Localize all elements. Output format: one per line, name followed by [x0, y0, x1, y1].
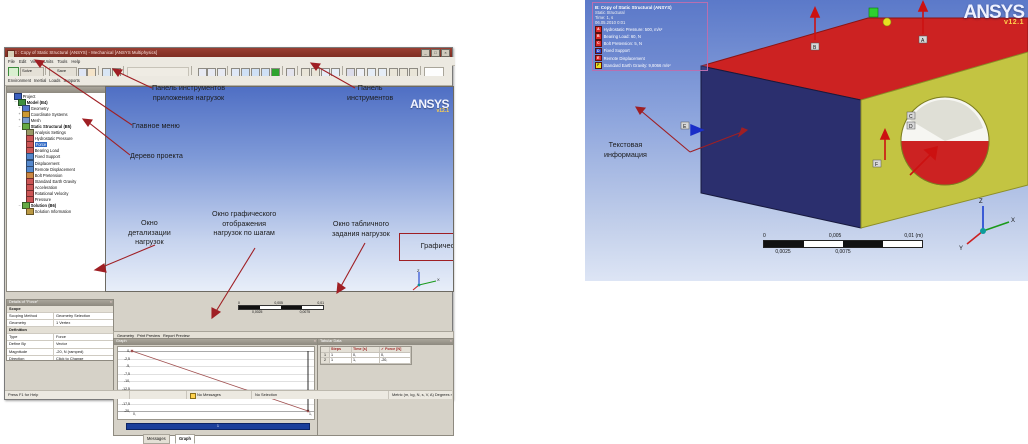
tree-item-label: Acceleration	[35, 185, 58, 190]
tab-graph[interactable]: Graph	[175, 434, 195, 444]
chart-plot-area	[118, 347, 314, 419]
legend-item-label: Standard Earth Gravity: 9,8066 m/s²	[604, 63, 671, 68]
tabular-cell[interactable]: -20,	[380, 358, 411, 364]
ansys-watermark-small: ANSYS v12.1	[410, 97, 449, 114]
tree-item-label: Analysis Settings	[35, 130, 66, 135]
annotation-project-tree-line1: Дерево проекта	[130, 151, 183, 161]
bottom-tab-strip[interactable]: Messages Graph	[113, 434, 452, 442]
toolbar-label-inertial[interactable]: Inertial	[34, 78, 46, 83]
details-row-key: Definition	[7, 327, 113, 333]
annotation-graph-window: Окно графического отображения нагрузок п…	[212, 209, 276, 238]
annotation-details-window: Окно детализации нагрузок	[128, 218, 171, 247]
details-row[interactable]: Magnitude-20, N (ramped)	[7, 349, 113, 356]
tabular-data-header: Tabular Data ×	[318, 339, 453, 345]
status-selection: No Selection	[252, 391, 389, 399]
details-row[interactable]: Define ByVector	[7, 341, 113, 348]
scale-label-quarter-small: 0,0025	[252, 310, 262, 314]
scale-label-threequarter-small: 0,0075	[300, 310, 310, 314]
scale-label-0-large: 0	[763, 233, 766, 239]
scale-bottom-labels-small: 0,0025 0,0075	[238, 310, 324, 314]
details-row-key: Scope	[7, 306, 113, 312]
scale-label-0-small: 0	[238, 301, 240, 305]
annotation-graph-line2: отображения	[212, 219, 276, 229]
menu-item-units[interactable]: Units	[44, 59, 54, 64]
tabular-row[interactable]: 211,-20,	[321, 358, 411, 364]
details-row[interactable]: Scoping MethodGeometry Selection	[7, 313, 113, 320]
legend-item-label: Hydrostatic Pressure: 500, m/s²	[604, 27, 663, 32]
scale-label-quarter-large: 0,0025	[763, 249, 803, 255]
status-messages[interactable]: No Messages	[187, 391, 252, 399]
chart-xtick-label: 0,	[133, 412, 136, 416]
scale-label-max-large: 0,01 (m)	[904, 233, 923, 239]
details-row-value[interactable]: Force	[54, 334, 113, 340]
chart-xtick-label: 1,	[309, 412, 312, 416]
graphics-window-callout-box: Графическое окно	[399, 233, 454, 261]
legend-item-label: Fixed Support	[604, 48, 630, 53]
menu-item-edit[interactable]: Edit	[19, 59, 26, 64]
status-help-text: Press F1 for Help	[5, 391, 130, 399]
legend-tag-badge: B	[595, 33, 602, 40]
details-close-icon[interactable]: ×	[110, 300, 112, 306]
scale-bar-large: 0 0,005 0,01 (m) 0,0025 0,0075	[763, 233, 923, 255]
annotation-graphics-window: Графическое окно	[400, 241, 454, 250]
annotation-toolbar-line2: инструментов	[347, 93, 393, 103]
details-row-key: Type	[7, 334, 54, 340]
details-row-key: Direction	[7, 356, 54, 361]
tabular-cell[interactable]: 1,	[352, 358, 380, 364]
status-units: Metric (m, kg, N, s, V, A) Degrees rad/s…	[389, 391, 452, 399]
scale-label-threequarter-large: 0,0075	[803, 249, 883, 255]
tabular-data-grid[interactable]: StepsTime [s]✓ Force [N]110,0,211,-20,	[320, 346, 412, 365]
annotation-text-info-line2: информация	[604, 150, 647, 160]
tree-item-label: Solution Information	[35, 209, 71, 214]
annotation-tabular-line1: Окно табличного	[332, 219, 390, 229]
legend-item: AHydrostatic Pressure: 500, m/s²	[595, 26, 705, 33]
annotation-text-information: Текстовая информация	[604, 140, 647, 159]
annotation-toolbar-line1: Панель	[347, 83, 393, 93]
solution-information-icon	[26, 208, 34, 215]
tabular-cell[interactable]: 2	[321, 358, 330, 364]
graph-close-icon[interactable]: ×	[314, 339, 316, 345]
tree-item-label: Standard Earth Gravity	[35, 179, 77, 184]
scale-top-labels-large: 0 0,005 0,01 (m)	[763, 233, 923, 239]
graphics-viewport[interactable]: ANSYS v12.1 Графическое окно Z X	[105, 86, 454, 292]
svg-text:X: X	[437, 277, 440, 282]
warning-icon	[190, 393, 196, 399]
details-group-row: Scope	[7, 306, 113, 313]
annotation-text-info-line1: Текстовая	[604, 140, 647, 150]
scale-label-max-small: 0,01	[317, 301, 324, 305]
scale-label-mid-large: 0,005	[829, 233, 842, 239]
save-button-label: Save	[57, 68, 66, 73]
details-row-value[interactable]: Vector	[54, 341, 113, 347]
tree-item-label: Displacement	[35, 161, 60, 166]
tree-item-label: Force	[35, 142, 47, 147]
toolbar-label-environment: Environment	[8, 78, 31, 83]
tree-item-label: Static Structural (B5)	[31, 124, 72, 129]
tabular-data-title: Tabular Data	[320, 339, 342, 343]
annotation-loads-toolbar-line1: Панель инструментов	[152, 83, 225, 93]
legend-item: BBearing Load: 60, N	[595, 33, 705, 40]
legend-tag-badge: F	[595, 62, 602, 69]
tabular-data-close-icon[interactable]: ×	[450, 339, 452, 345]
legend-tag-badge: D	[595, 48, 602, 55]
svg-text:Y: Y	[959, 246, 963, 252]
toolbar-label-loads[interactable]: Loads	[49, 78, 60, 83]
legend-item-label: Bearing Load: 60, N	[604, 34, 641, 39]
annotation-graph-line3: нагрузок по шагам	[212, 228, 276, 238]
tree-item-label: Remote Displacement	[35, 167, 75, 172]
legend-item-label: Bolt Pretension: 5, N	[604, 41, 642, 46]
details-group-row: Definition	[7, 327, 113, 334]
tree-item-label: Coordinate Systems	[31, 112, 68, 117]
menu-item-help[interactable]: Help	[71, 59, 80, 64]
window-title: B : Copy of Static Structural (ANSYS) - …	[5, 50, 157, 55]
render-panel[interactable]: A B C D E F Z X Y B: Copy of Static St	[585, 0, 1028, 281]
toolbar-label-supports[interactable]: Supports	[63, 78, 79, 83]
annotation-toolbar: Панель инструментов	[347, 83, 393, 102]
annotation-loads-toolbar-line2: приложения нагрузок	[152, 93, 225, 103]
details-row-key: Scoping Method	[7, 313, 54, 319]
tree-item-label: Model (B4)	[27, 100, 48, 105]
legend-item: DFixed Support	[595, 48, 705, 55]
legend-item: FStandard Earth Gravity: 9,8066 m/s²	[595, 62, 705, 69]
annotation-main-menu: Главное меню	[132, 121, 180, 131]
annotation-details-line1: Окно	[128, 218, 171, 228]
minimize-button[interactable]: _	[421, 49, 430, 57]
annotation-details-line2: детализации	[128, 228, 171, 238]
menu-item-view[interactable]: View	[30, 59, 39, 64]
step-indicator-bar[interactable]: 1	[126, 423, 310, 430]
ansys-watermark-large: ANSYS v12.1	[964, 2, 1024, 26]
scale-label-mid-small: 0,005	[274, 301, 283, 305]
maximize-button[interactable]: □	[431, 49, 440, 57]
legend-tag-badge: A	[595, 26, 602, 33]
annotation-tabular-line2: задания нагрузок	[332, 229, 390, 239]
solve-button-label: Solve	[22, 68, 32, 73]
graph-panel[interactable]: Graph × 0,-2,5-5,-7,5-10,-12,5-15,-17,5-…	[113, 338, 318, 436]
window-controls: _ □ ×	[421, 49, 450, 57]
scale-bar-small: 0 0,005 0,01 0,0025 0,0075	[238, 301, 324, 314]
annotation-project-tree: Дерево проекта	[130, 151, 183, 161]
tree-item-label: Fixed Support	[35, 154, 61, 159]
tree-item-label: Hydrostatic Pressure	[35, 136, 73, 141]
annotation-main-menu-line1: Главное меню	[132, 121, 180, 131]
details-panel[interactable]: Details of "Force" × ScopeScoping Method…	[6, 299, 114, 361]
details-row-value[interactable]: Geometry Selection	[54, 313, 113, 319]
tabular-data-panel[interactable]: Tabular Data × StepsTime [s]✓ Force [N]1…	[317, 338, 454, 436]
tree-item-label: Solution (B6)	[31, 203, 56, 208]
tree-item-label: Bolt Pretension	[35, 173, 63, 178]
details-row-key: Define By	[7, 341, 54, 347]
details-row-value[interactable]: 1 Vertex	[54, 320, 113, 326]
close-button[interactable]: ×	[441, 49, 450, 57]
details-panel-title: Details of "Force"	[9, 300, 38, 304]
tree-item-label: Rotational Velocity	[35, 191, 69, 196]
details-row-key: Geometry	[7, 320, 54, 326]
details-row[interactable]: TypeForce	[7, 334, 113, 341]
vertex-marker-yellow	[883, 18, 891, 26]
svg-text:F: F	[875, 162, 878, 168]
vertex-marker-green	[869, 8, 878, 17]
graph-panel-header: Graph ×	[114, 339, 317, 345]
details-row-value[interactable]: -20, N (ramped)	[54, 349, 113, 355]
chart-data-point	[131, 350, 133, 352]
scale-bottom-labels-large: 0,0025 0,0075	[763, 249, 923, 255]
window-titlebar: B : Copy of Static Structural (ANSYS) - …	[5, 48, 452, 57]
tree-item-label: Mesh	[31, 118, 41, 123]
svg-text:Z: Z	[979, 199, 983, 205]
tab-messages[interactable]: Messages	[143, 434, 170, 444]
menu-item-file[interactable]: File	[8, 59, 15, 64]
legend-item-label: Remote Displacement	[604, 56, 645, 61]
axis-triad-large: Z X Y	[959, 199, 1015, 252]
menu-item-tools[interactable]: Tools	[57, 59, 67, 64]
scale-bar-graphic-large	[763, 240, 923, 248]
legend-item: ERemote Displacement	[595, 55, 705, 62]
tabular-cell[interactable]: 1	[330, 358, 352, 364]
project-tree[interactable]: Project−Model (B4)+Geometry+Coordinate S…	[6, 86, 106, 292]
svg-text:D: D	[909, 124, 913, 130]
load-step-chart[interactable]: 0,-2,5-5,-7,5-10,-12,5-15,-17,5-20,0,1,	[117, 346, 315, 420]
annotation-loads-toolbar: Панель инструментов приложения нагрузок	[152, 83, 225, 102]
axis-triad-small: Z X	[411, 269, 445, 291]
chart-series-line	[132, 351, 308, 411]
details-row-key: Magnitude	[7, 349, 54, 355]
annotation-graph-line1: Окно графического	[212, 209, 276, 219]
tree-item-label: Pressure	[35, 197, 51, 202]
render-legend: B: Copy of Static Structural (ANSYS) Sta…	[592, 2, 708, 71]
legend-tag-badge: C	[595, 40, 602, 47]
graph-panel-title: Graph	[116, 339, 127, 343]
tree-item-label: Geometry	[31, 106, 49, 111]
legend-subtitle-timestamp: 06.05.2010 0:01	[595, 20, 705, 25]
status-spacer	[130, 391, 187, 399]
status-bar: Press F1 for Help No Messages No Selecti…	[5, 390, 452, 399]
details-row-value[interactable]: Click to Change	[54, 356, 113, 361]
svg-text:C: C	[909, 114, 913, 120]
details-row[interactable]: DirectionClick to Change	[7, 356, 113, 361]
legend-tag-badge: E	[595, 55, 602, 62]
annotation-tabular-window: Окно табличного задания нагрузок	[332, 219, 390, 238]
legend-item: CBolt Pretension: 5, N	[595, 40, 705, 47]
details-panel-header: Details of "Force" ×	[7, 300, 113, 306]
annotation-details-line3: нагрузок	[128, 237, 171, 247]
svg-text:X: X	[1011, 218, 1015, 224]
tree-item-solution-information[interactable]: Solution Information	[7, 209, 105, 215]
tree-item-label: Bearing Load	[35, 148, 59, 153]
details-row[interactable]: Geometry1 Vertex	[7, 320, 113, 327]
